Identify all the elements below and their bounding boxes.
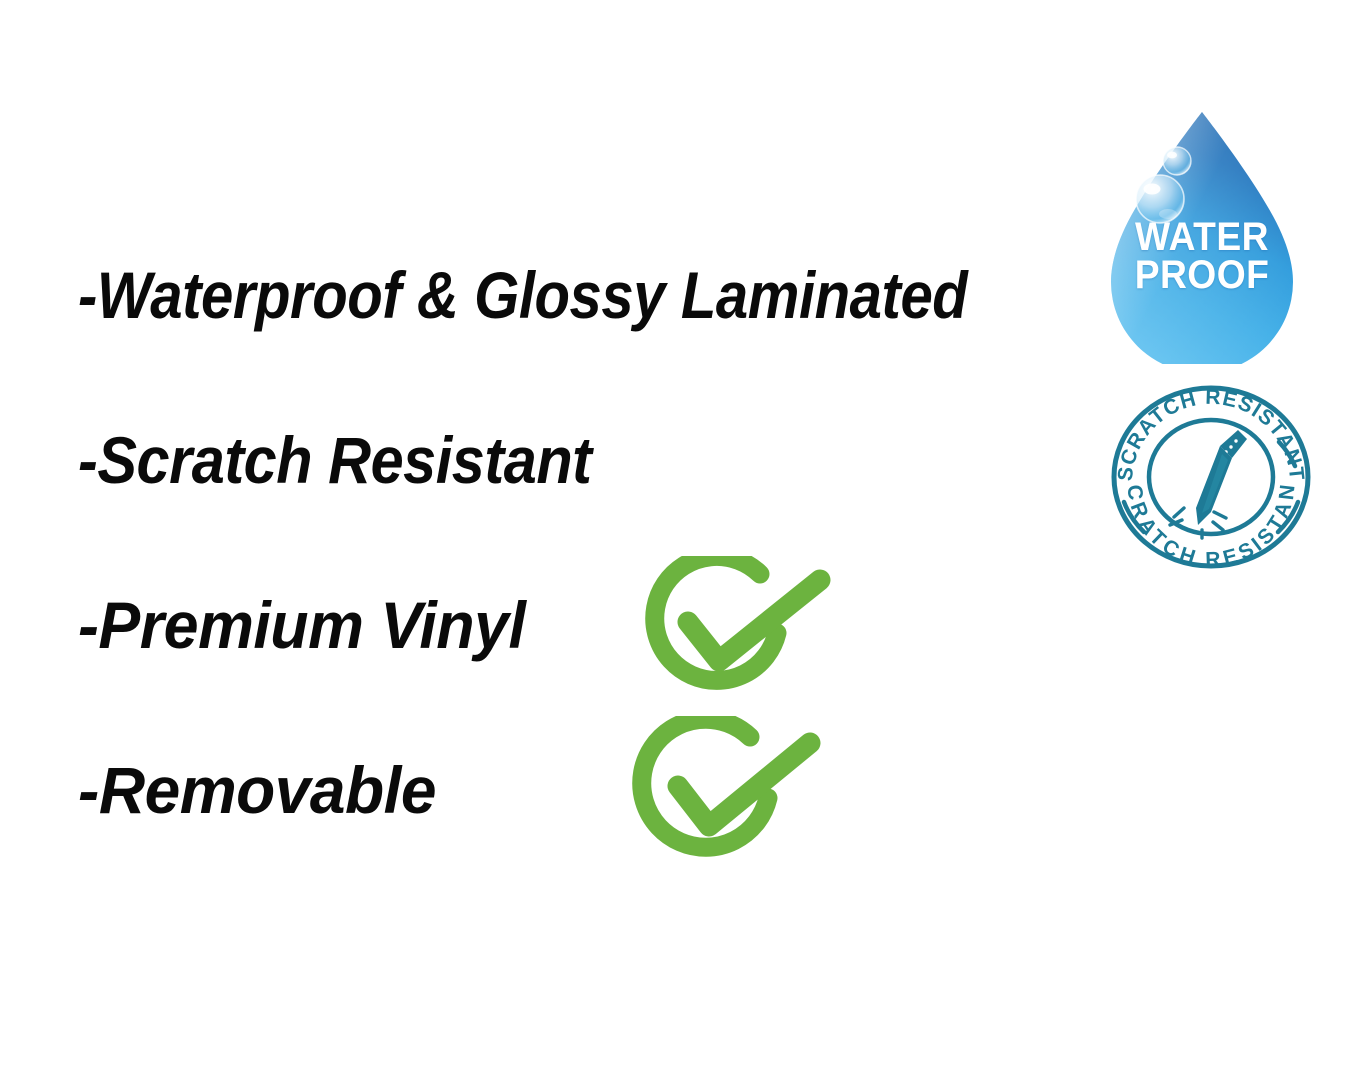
check-circle-premium-vinyl: [636, 556, 836, 714]
waterproof-drop-badge: WATER PROOF: [1098, 102, 1306, 364]
knife-icon: [1170, 430, 1247, 538]
check-tick-icon: [678, 743, 810, 826]
stamp-text-top: SCRATCH RESISTANT: [1114, 386, 1308, 482]
check-circle-removable: [626, 716, 826, 880]
feature-item-removable: -Removable: [78, 757, 436, 823]
feature-item-scratch-resistant: -Scratch Resistant: [78, 427, 591, 493]
bubble-small-icon: [1163, 147, 1191, 175]
feature-item-waterproof-glossy-laminated: -Waterproof & Glossy Laminated: [78, 262, 967, 328]
feature-list-graphic: -Waterproof & Glossy Laminated -Scratch …: [0, 0, 1359, 1080]
feature-item-premium-vinyl: -Premium Vinyl: [78, 592, 525, 658]
scratch-resistant-stamp: SCRATCH RESISTANT SCRATCH RESISTANT: [1110, 384, 1312, 570]
drop-sheen: [1111, 112, 1293, 364]
check-tick-icon: [688, 580, 820, 661]
